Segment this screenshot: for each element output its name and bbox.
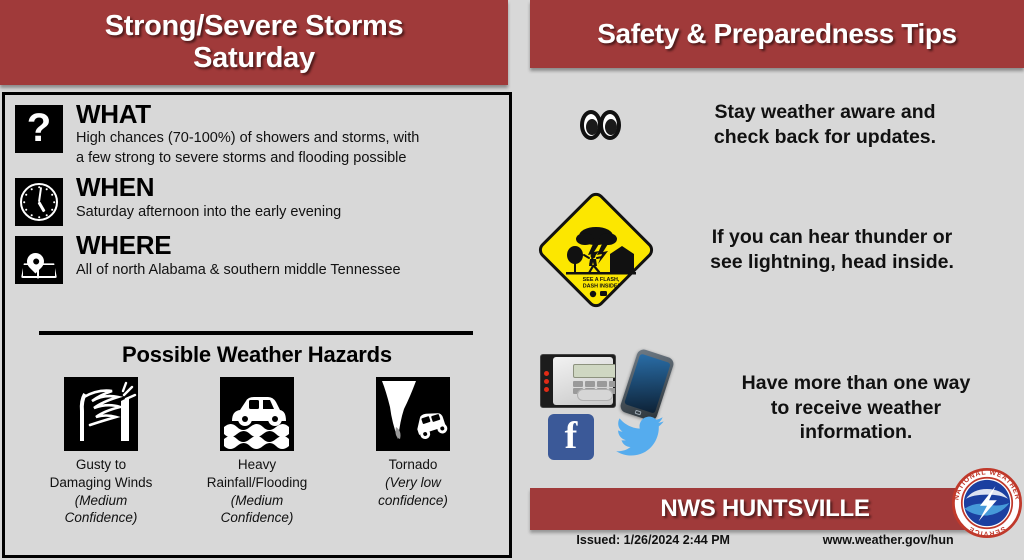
info-row-when-heading: WHEN [76, 174, 341, 201]
info-row-what: ? WHAT High chances (70-100%) of showers… [5, 95, 509, 168]
info-row-what-text: WHAT High chances (70-100%) of showers a… [76, 101, 419, 168]
sign-artwork: SEE A FLASH, DASH INSIDE! [544, 198, 648, 302]
wind-damage-glyph [64, 377, 138, 451]
clock-tick [53, 202, 55, 204]
hazard-flood-name-line2: Rainfall/Flooding [182, 474, 332, 492]
hazard-item-wind: Gusty to Damaging Winds (Medium Confiden… [26, 377, 176, 527]
left-header-title-line1: Strong/Severe Storms [105, 11, 404, 42]
hazard-item-tornado: Tornado (Very low confidence) [338, 377, 488, 527]
left-header-title: Strong/Severe Storms Saturday [105, 11, 404, 74]
hazard-wind-confidence-line1: (Medium [26, 492, 176, 510]
info-row-what-body: High chances (70-100%) of showers and st… [76, 129, 419, 168]
twitter-icon [614, 414, 666, 460]
left-header-banner: Strong/Severe Storms Saturday [0, 0, 508, 85]
clock-tick [51, 194, 53, 196]
tip-multiple-sources: f Have more than one way to receive weat… [538, 352, 1018, 464]
eye-right [599, 110, 621, 140]
radio-body [553, 357, 613, 405]
hazards-list: Gusty to Damaging Winds (Medium Confiden… [5, 377, 509, 527]
radio-speaker [577, 389, 613, 401]
right-header-banner: Safety & Preparedness Tips [530, 0, 1024, 68]
lightning-safety-sign-icon: SEE A FLASH, DASH INSIDE! [530, 190, 662, 310]
tip-multiple-sources-text: Have more than one way to receive weathe… [696, 371, 1016, 446]
tip-stay-aware-line2: check back for updates. [660, 125, 990, 150]
tip-lightning-line1: If you can hear thunder or [662, 225, 1002, 250]
map-pin-icon [15, 236, 63, 284]
clock-face [20, 183, 58, 221]
info-row-where: WHERE All of north Alabama & southern mi… [5, 226, 509, 284]
tip-lightning-text: If you can hear thunder or see lightning… [662, 225, 1002, 275]
info-row-where-heading: WHERE [76, 232, 401, 259]
info-row-what-heading: WHAT [76, 101, 419, 128]
tornado-icon [376, 377, 450, 451]
tip-lightning-safety: SEE A FLASH, DASH INSIDE! If you can hea… [530, 190, 1010, 310]
facebook-icon: f [548, 414, 594, 460]
sign-text-line1: SEE A FLASH, [583, 277, 620, 283]
hazard-flood-name-line1: Heavy [182, 456, 332, 474]
tornado-glyph [376, 377, 450, 451]
info-row-when-body: Saturday afternoon into the early evenin… [76, 203, 341, 223]
clock-tick [31, 215, 33, 217]
clock-tick [46, 215, 48, 217]
flooded-car-glyph [220, 377, 294, 451]
issued-timestamp: Issued: 1/26/2024 2:44 PM [576, 533, 730, 547]
info-row-when: WHEN Saturday afternoon into the early e… [5, 168, 509, 226]
hazards-title: Possible Weather Hazards [5, 342, 509, 368]
hazard-tornado-name-line1: Tornado [338, 456, 488, 474]
wind-damage-icon [64, 377, 138, 451]
info-row-what-body-line1: High chances (70-100%) of showers and st… [76, 129, 419, 149]
clock-minute-hand [38, 187, 42, 202]
tip-sources-line3: information. [696, 420, 1016, 445]
right-header-title: Safety & Preparedness Tips [597, 18, 956, 50]
flooded-car-icon [220, 377, 294, 451]
clock-tick [23, 202, 25, 204]
section-divider [39, 331, 473, 335]
left-header-title-line2: Saturday [105, 43, 404, 74]
clock-tick [25, 194, 27, 196]
tip-stay-aware: Stay weather aware and check back for up… [540, 100, 1010, 150]
clock-tick [25, 209, 27, 211]
clock-tick [38, 217, 40, 219]
info-row-when-text: WHEN Saturday afternoon into the early e… [76, 174, 341, 222]
question-mark-glyph: ? [27, 108, 51, 148]
infographic-root: Strong/Severe Storms Saturday Safety & P… [0, 0, 1024, 560]
tip-sources-line1: Have more than one way [696, 371, 1016, 396]
phone-screen [624, 353, 671, 413]
noaa-weather-radio-icon [540, 354, 616, 408]
hazard-wind-name-line1: Gusty to [26, 456, 176, 474]
hazard-tornado-confidence-line2: confidence) [338, 492, 488, 510]
question-mark-icon: ? [15, 105, 63, 153]
eyes-glyph [580, 110, 621, 140]
eyes-icon [540, 110, 660, 140]
footer-metadata: Issued: 1/26/2024 2:44 PM www.weather.go… [530, 533, 1000, 547]
tip-lightning-line2: see lightning, head inside. [662, 250, 1002, 275]
smartphone-icon [619, 348, 676, 423]
hazard-item-flood-label: Heavy Rainfall/Flooding (Medium Confiden… [182, 456, 332, 527]
office-name: NWS HUNTSVILLE [660, 495, 869, 523]
hazard-item-wind-label: Gusty to Damaging Winds (Medium Confiden… [26, 456, 176, 527]
hazard-flood-confidence-line1: (Medium [182, 492, 332, 510]
clock-tick [38, 187, 40, 189]
website-url[interactable]: www.weather.gov/hun [823, 533, 954, 547]
clock-tick [31, 189, 33, 191]
clock-tick [46, 189, 48, 191]
clock-icon [15, 178, 63, 226]
info-row-what-body-line2: a few strong to severe storms and floodi… [76, 149, 419, 169]
hazard-item-tornado-label: Tornado (Very low confidence) [338, 456, 488, 509]
radio-display [573, 364, 616, 378]
hazard-wind-name-line2: Damaging Winds [26, 474, 176, 492]
info-row-where-text: WHERE All of north Alabama & southern mi… [76, 232, 401, 280]
forecast-details-panel: ? WHAT High chances (70-100%) of showers… [2, 92, 512, 558]
weather-radio-and-devices-icon: f [538, 352, 688, 464]
radio-alert-leds [544, 371, 549, 395]
clock-hour-hand [38, 202, 46, 213]
tip-stay-aware-line1: Stay weather aware and [660, 100, 990, 125]
hazard-item-flood: Heavy Rainfall/Flooding (Medium Confiden… [182, 377, 332, 527]
clock-tick [51, 209, 53, 211]
hazard-flood-confidence-line2: Confidence) [182, 509, 332, 527]
sign-text-line2: DASH INSIDE! [583, 284, 620, 290]
nws-logo: NATIONAL WEATHER SERVICE [952, 468, 1022, 538]
hazard-wind-confidence-line2: Confidence) [26, 509, 176, 527]
tip-sources-line2: to receive weather [696, 396, 1016, 421]
office-footer-banner: NWS HUNTSVILLE [530, 488, 1000, 530]
tip-stay-aware-text: Stay weather aware and check back for up… [660, 100, 990, 150]
hazard-tornado-confidence-line1: (Very low [338, 474, 488, 492]
info-row-where-body: All of north Alabama & southern middle T… [76, 261, 401, 281]
